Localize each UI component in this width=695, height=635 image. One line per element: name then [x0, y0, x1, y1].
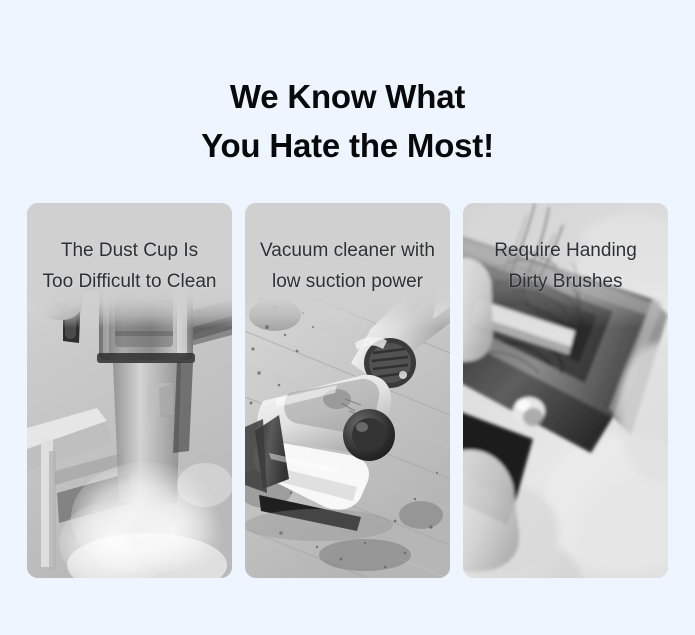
pain-point-card-dirty-brushes[interactable]: Require Handing Dirty Brushes [463, 203, 668, 578]
pain-point-card-list: The Dust Cup Is Too Difficult to Clean [27, 203, 669, 578]
promo-banner: We Know What You Hate the Most! [0, 0, 695, 635]
pain-point-card-dust-cup[interactable]: The Dust Cup Is Too Difficult to Clean [27, 203, 232, 578]
pain-point-card-low-suction[interactable]: Vacuum cleaner with low suction power [245, 203, 450, 578]
page-title-line-1: We Know What [0, 72, 695, 121]
page-title-line-2: You Hate the Most! [0, 121, 695, 170]
pain-point-caption-dust-cup: The Dust Cup Is Too Difficult to Clean [27, 203, 232, 297]
pain-point-caption-dirty-brushes: Require Handing Dirty Brushes [463, 203, 668, 297]
pain-point-caption-low-suction: Vacuum cleaner with low suction power [245, 203, 450, 297]
page-title: We Know What You Hate the Most! [0, 72, 695, 170]
